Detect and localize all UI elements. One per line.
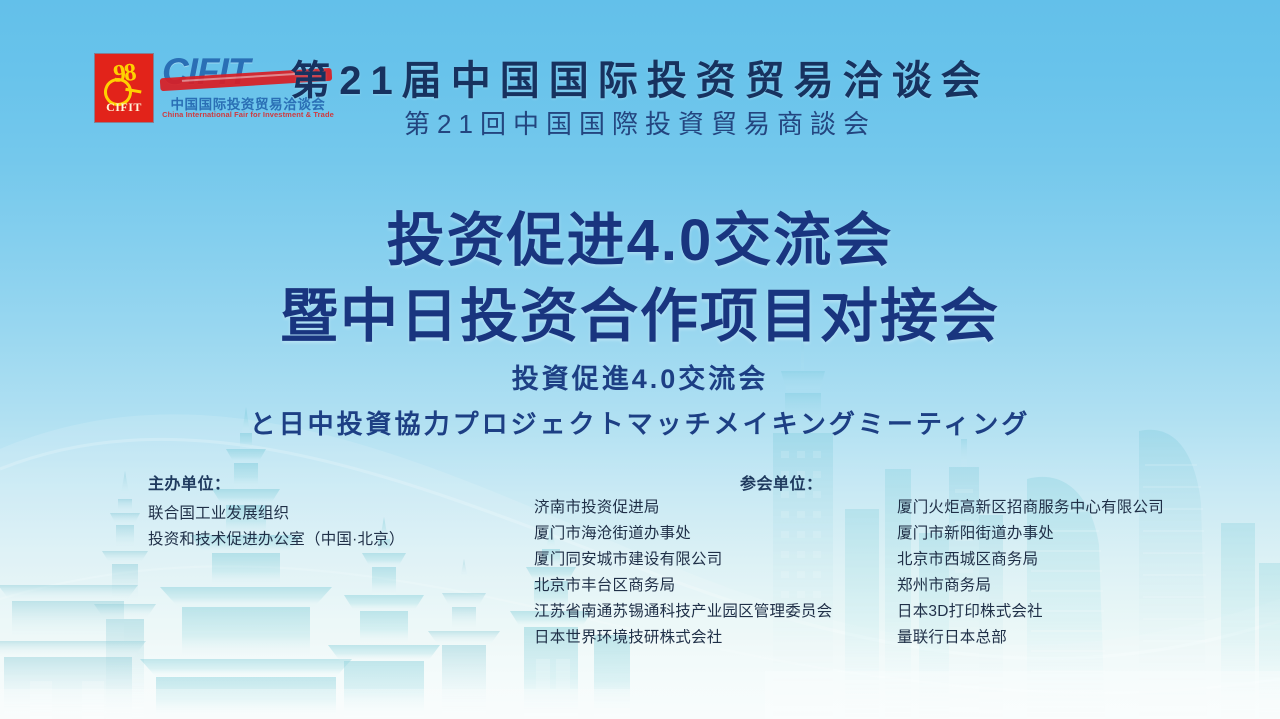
attendee-line: 江苏省南通苏锡通科技产业园区管理委员会 (534, 599, 884, 625)
sub-title-line-1: 投資促進4.0交流会 (0, 357, 1280, 396)
attendee-line: 厦门市新阳街道办事处 (897, 521, 1227, 547)
attendee-line: 厦门市海沧街道办事处 (534, 521, 884, 547)
main-title-line-1: 投资促进4.0交流会 (0, 193, 1280, 277)
attendee-column-2: 厦门火炬高新区招商服务中心有限公司 厦门市新阳街道办事处 北京市西城区商务局 郑… (897, 495, 1227, 651)
poster-header: 98 CIFIT CIFIT 中国国际投资贸易洽谈会 China Interna… (0, 0, 1280, 150)
main-title-line-2: 暨中日投资合作项目对接会 (0, 269, 1280, 353)
fair-title-japanese: 第21回中国国際投資貿易商談会 (0, 104, 1280, 141)
poster-canvas: 98 CIFIT CIFIT 中国国际投资贸易洽谈会 China Interna… (0, 0, 1280, 719)
host-label: 主办单位： (148, 470, 478, 494)
host-line: 投资和技术促进办公室（中国·北京） (148, 527, 478, 553)
attendee-line: 量联行日本总部 (897, 625, 1227, 651)
fair-title-chinese: 第21届中国国际投资贸易洽谈会 (0, 48, 1280, 106)
attendee-line: 日本3D打印株式会社 (897, 599, 1227, 625)
attendee-line: 北京市西城区商务局 (897, 547, 1227, 573)
attendee-line: 济南市投资促进局 (534, 495, 884, 521)
sub-title-line-2: と日中投資協力プロジェクトマッチメイキングミーティング (0, 404, 1280, 441)
attendee-line: 郑州市商务局 (897, 573, 1227, 599)
attendee-line: 厦门火炬高新区招商服务中心有限公司 (897, 495, 1227, 521)
attendee-label: 参会单位： (740, 470, 823, 494)
attendee-line: 日本世界环境技研株式会社 (534, 625, 884, 651)
host-line: 联合国工业发展组织 (148, 501, 478, 527)
host-organizations-column: 主办单位： 联合国工业发展组织 投资和技术促进办公室（中国·北京） (148, 470, 478, 553)
attendee-line: 北京市丰台区商务局 (534, 573, 884, 599)
attendee-column-1: 济南市投资促进局 厦门市海沧街道办事处 厦门同安城市建设有限公司 北京市丰台区商… (534, 495, 884, 651)
cifit-badge-text: CIFIT (106, 100, 142, 115)
credits-section: 主办单位： 联合国工业发展组织 投资和技术促进办公室（中国·北京） 参会单位： … (0, 465, 1280, 675)
attendee-line: 厦门同安城市建设有限公司 (534, 547, 884, 573)
